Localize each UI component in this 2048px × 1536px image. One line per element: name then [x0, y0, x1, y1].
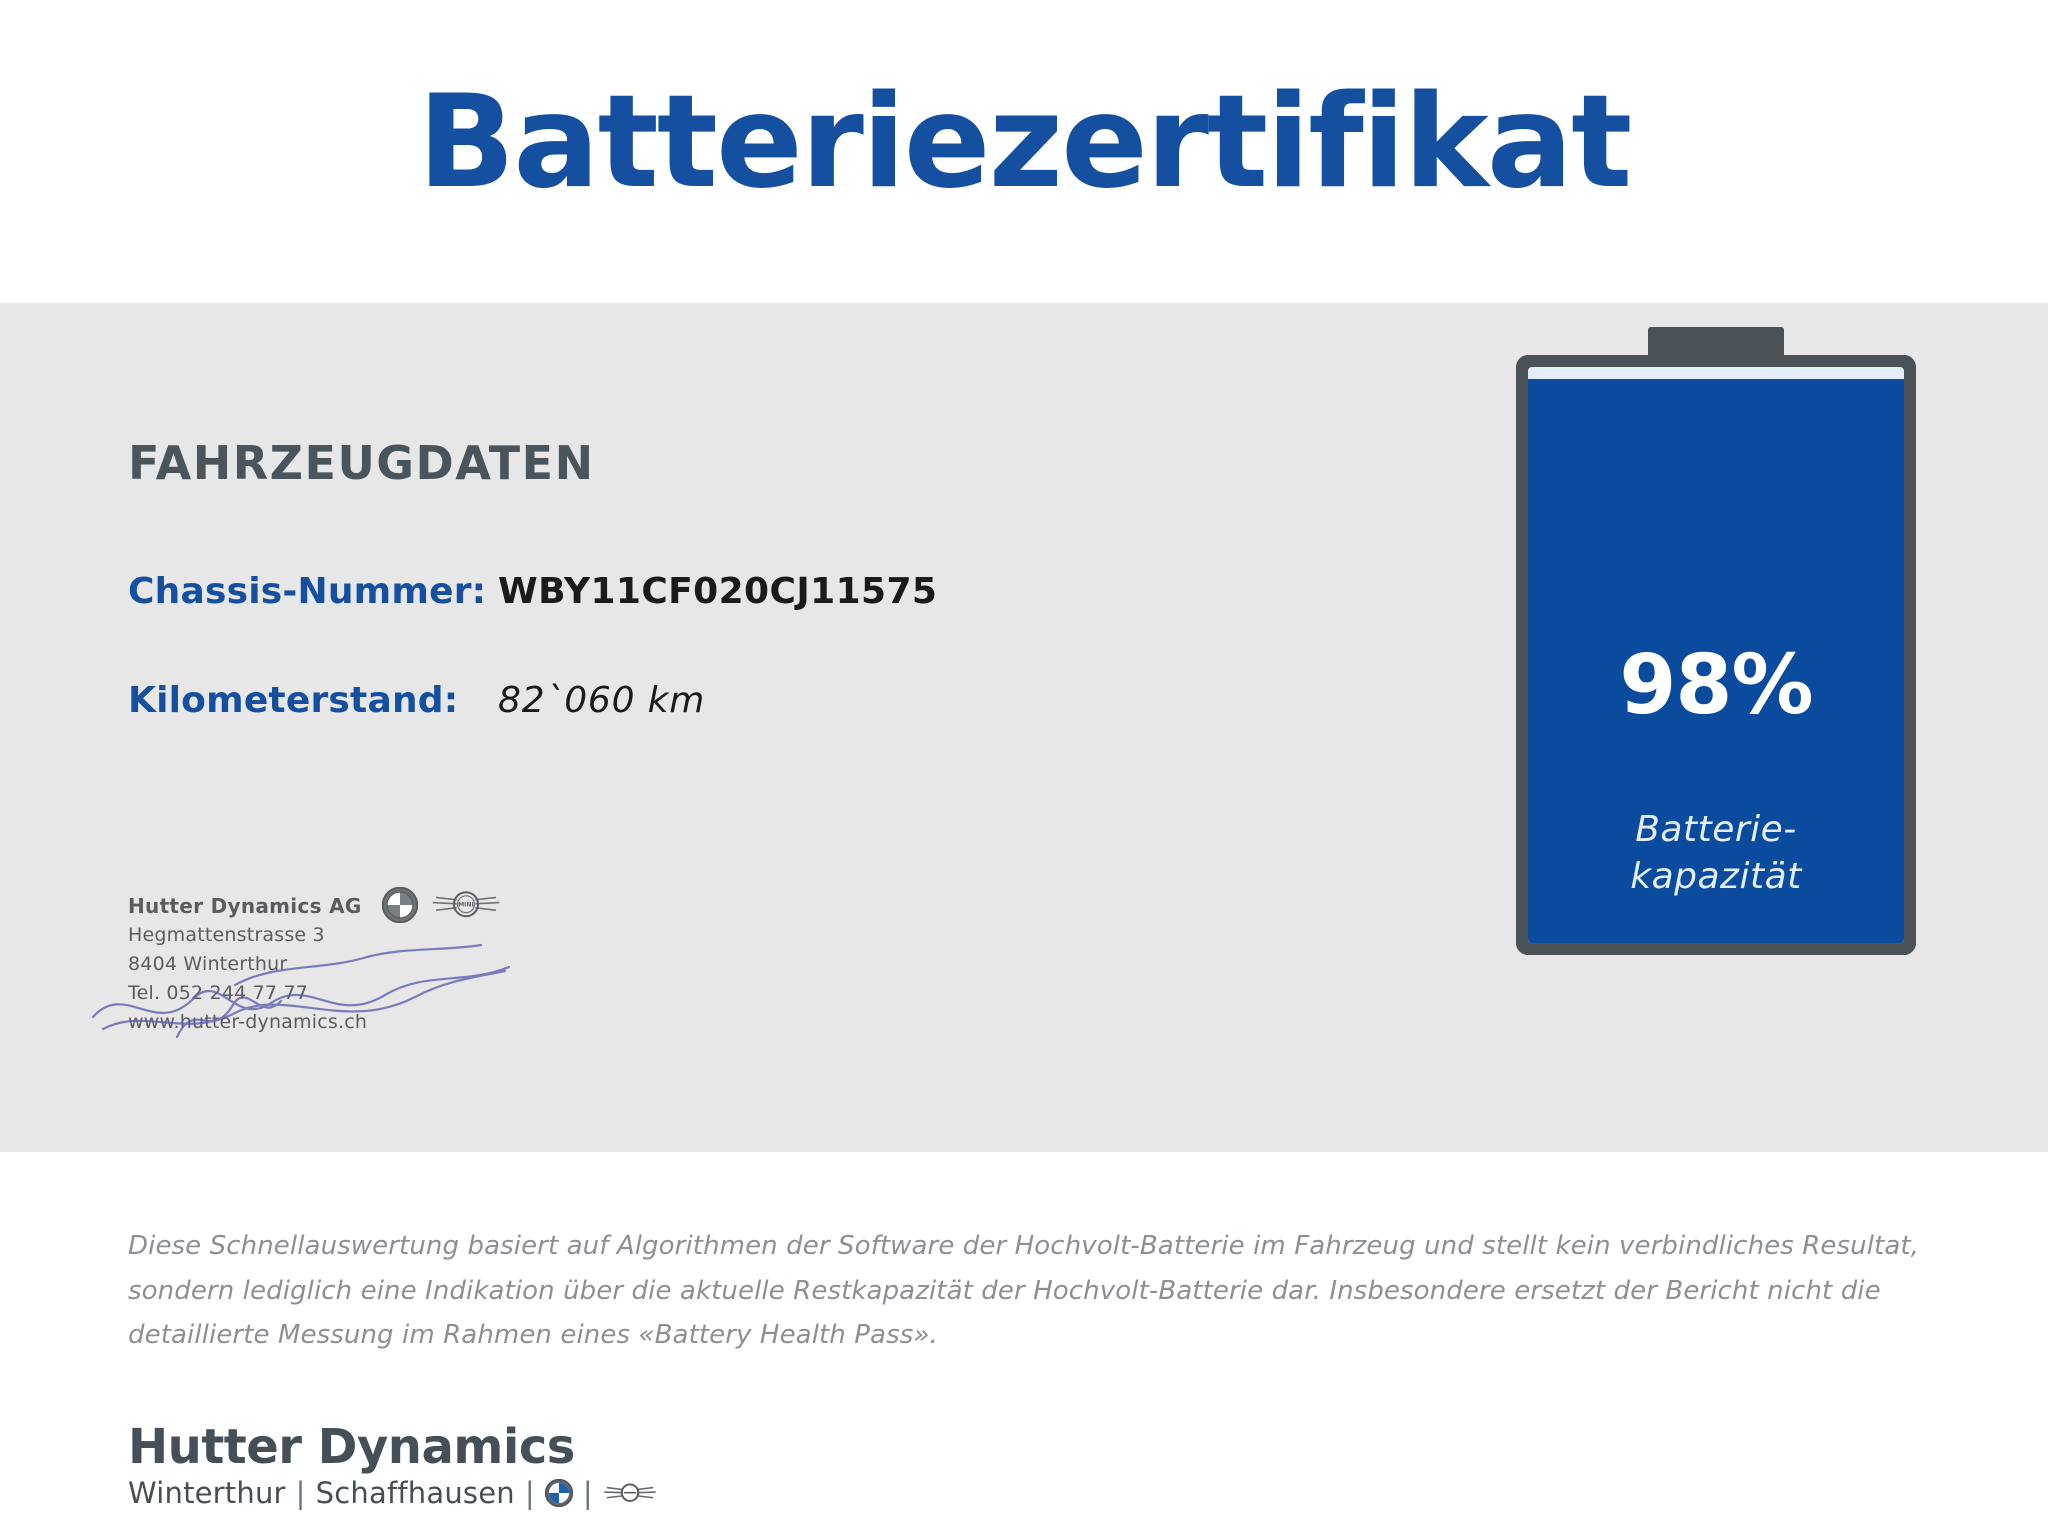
battery-inner: 98% Batterie- kapazität: [1528, 367, 1904, 943]
bmw-logo: [545, 1479, 573, 1507]
page-title: Batteriezertifikat: [418, 79, 1631, 207]
title-band: Batteriezertifikat: [0, 0, 2048, 303]
footer-location-winterthur: Winterthur: [128, 1476, 286, 1510]
battery-caption-line-2: kapazität: [1630, 856, 1802, 897]
footer-separator-1: |: [296, 1476, 306, 1510]
vehicle-data-heading: FAHRZEUGDATEN: [128, 436, 595, 490]
footer-brand-subtitle: Winterthur | Schaffhausen | |: [128, 1476, 657, 1510]
certificate-panel: FAHRZEUGDATEN Chassis-Nummer: WBY11CF020…: [0, 303, 2048, 1152]
chassis-number-label: Chassis-Nummer:: [128, 571, 498, 612]
bmw-logo: [382, 887, 418, 923]
footer-separator-2: |: [525, 1476, 535, 1510]
footer-separator-3: |: [583, 1476, 593, 1510]
mileage-label: Kilometerstand:: [128, 680, 498, 721]
table-row: Kilometerstand: 82`060 km: [128, 680, 1278, 721]
vehicle-data-table: Chassis-Nummer: WBY11CF020CJ11575 Kilome…: [128, 571, 1278, 789]
stamp-logo-group: MINI: [382, 887, 500, 923]
footer-brand-name: Hutter Dynamics: [128, 1422, 657, 1472]
disclaimer-text: Diese Schnellauswertung basiert auf Algo…: [128, 1224, 1928, 1358]
battery-capacity-caption: Batterie- kapazität: [1528, 806, 1904, 901]
footer-location-schaffhausen: Schaffhausen: [316, 1476, 515, 1510]
battery-percent-label: 98%: [1528, 645, 1904, 727]
mini-logo: [603, 1481, 657, 1505]
stamp-phone: Tel. 052 244 77 77: [128, 979, 367, 1008]
mini-logo: MINI: [432, 890, 500, 920]
svg-text:MINI: MINI: [458, 902, 473, 909]
chassis-number-value: WBY11CF020CJ11575: [498, 571, 937, 612]
footer-section: Diese Schnellauswertung basiert auf Algo…: [0, 1152, 2048, 1536]
stamp-street: Hegmattenstrasse 3: [128, 921, 367, 950]
stamp-city: 8404 Winterthur: [128, 950, 367, 979]
stamp-company: Hutter Dynamics AG: [128, 891, 367, 921]
battery-shell: 98% Batterie- kapazität: [1516, 355, 1916, 955]
stamp-website: www.hutter-dynamics.ch: [128, 1008, 367, 1037]
battery-capacity-gauge: 98% Batterie- kapazität: [1516, 327, 1916, 967]
mileage-value: 82`060 km: [498, 680, 705, 721]
footer-brand-block: Hutter Dynamics Winterthur | Schaffhause…: [128, 1422, 657, 1510]
stamp-address-block: Hutter Dynamics AG Hegmattenstrasse 3 84…: [128, 891, 367, 1037]
battery-caption-line-1: Batterie-: [1635, 809, 1797, 850]
dealer-stamp: Hutter Dynamics AG Hegmattenstrasse 3 84…: [120, 883, 590, 1048]
table-row: Chassis-Nummer: WBY11CF020CJ11575: [128, 571, 1278, 612]
